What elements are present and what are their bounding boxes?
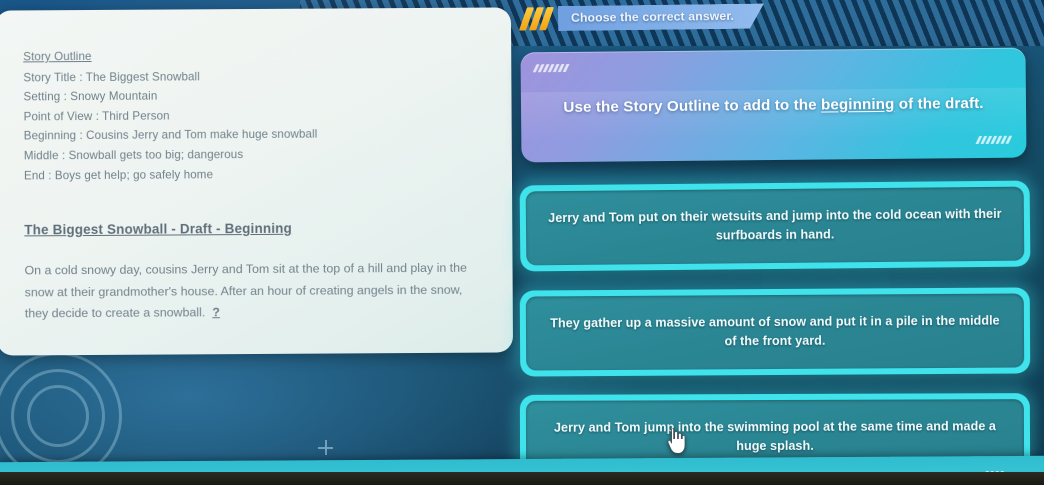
quiz-screen: Story Outline Story Title : The Biggest …	[0, 0, 1044, 485]
hash-marks-icon	[977, 136, 1010, 144]
slash-marks-icon	[523, 7, 552, 30]
instruction-banner-label: Choose the correct answer.	[558, 4, 764, 32]
question-text-prefix: Use the Story Outline to add to the	[563, 96, 821, 115]
answer-option-b-surface[interactable]: They gather up a massive amount of snow …	[526, 293, 1024, 370]
answer-option-b[interactable]: They gather up a massive amount of snow …	[520, 287, 1031, 376]
screen-bezel	[0, 472, 1044, 485]
question-text: Use the Story Outline to add to the begi…	[543, 94, 1003, 115]
hash-marks-icon	[535, 64, 568, 72]
question-text-emphasis: beginning	[821, 95, 895, 113]
instruction-banner: Choose the correct answer.	[523, 4, 764, 32]
question-text-suffix: of the draft.	[894, 94, 983, 112]
answer-option-a-label: Jerry and Tom put on their wetsuits and …	[526, 205, 1024, 248]
answer-option-a[interactable]: Jerry and Tom put on their wetsuits and …	[520, 181, 1031, 272]
answer-option-b-label: They gather up a massive amount of snow …	[526, 311, 1024, 352]
answer-option-c-label: Jerry and Tom jump into the swimming poo…	[526, 417, 1024, 457]
quiz-panel: Choose the correct answer. Use the Story…	[0, 0, 1044, 485]
question-card: Use the Story Outline to add to the begi…	[520, 48, 1026, 163]
answer-option-a-surface[interactable]: Jerry and Tom put on their wetsuits and …	[526, 187, 1025, 266]
